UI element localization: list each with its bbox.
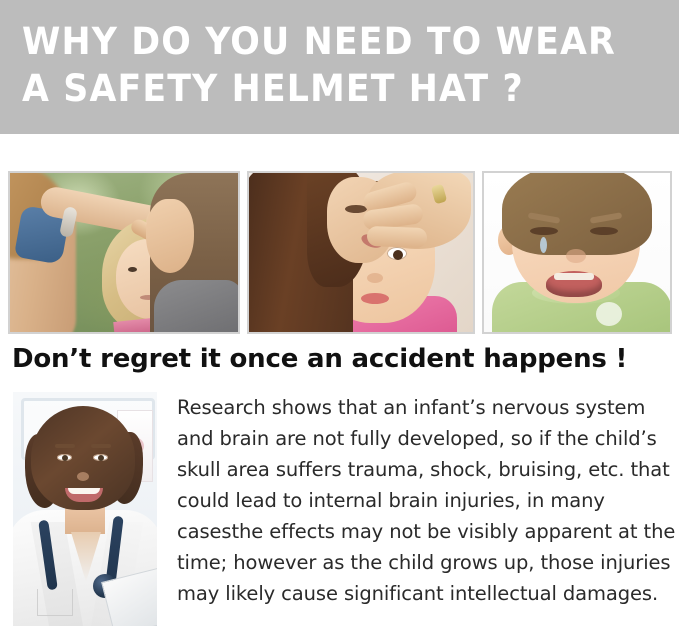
photo-crying-toddler (482, 171, 672, 334)
toddler-eye-right (590, 227, 618, 235)
photo-female-doctor (13, 392, 157, 626)
doctor-pupil-right (98, 455, 104, 461)
tear-drop-icon (540, 237, 547, 253)
girl-pupil-right (393, 250, 403, 260)
mother-finger-3 (367, 226, 428, 248)
header-banner: WHY DO YOU NEED TO WEAR A SAFETY HELMET … (0, 0, 679, 134)
section-headline: Don’t regret it once an accident happens… (12, 343, 672, 375)
doctor-pupil-left (62, 455, 68, 461)
photo-gallery (8, 171, 672, 334)
doctor-brow-left (55, 444, 75, 448)
older-child-face (146, 199, 194, 273)
doctor-brow-right (91, 444, 111, 448)
page-title: WHY DO YOU NEED TO WEAR A SAFETY HELMET … (22, 18, 624, 112)
body-paragraph: Research shows that an infant’s nervous … (177, 392, 677, 609)
girl-mouth (361, 293, 389, 304)
photo-1-content (10, 173, 238, 332)
toddler-teeth (554, 273, 594, 280)
older-child-shirt (154, 280, 238, 332)
toddler-nose (566, 249, 586, 263)
photo-mother-pointing-at-injured-girl (8, 171, 240, 334)
doctor-nose (77, 472, 89, 481)
photo-mother-kissing-girl-with-bandage (247, 171, 475, 334)
toddler-eye-left (530, 227, 558, 235)
coat-pocket (37, 589, 73, 616)
photo-3-content (484, 173, 670, 332)
toddler-hair (502, 173, 652, 255)
girl-nose (367, 273, 383, 283)
photo-2-content (249, 173, 473, 332)
shirt-embroidery (596, 302, 622, 326)
girl-eye-left (128, 267, 137, 272)
